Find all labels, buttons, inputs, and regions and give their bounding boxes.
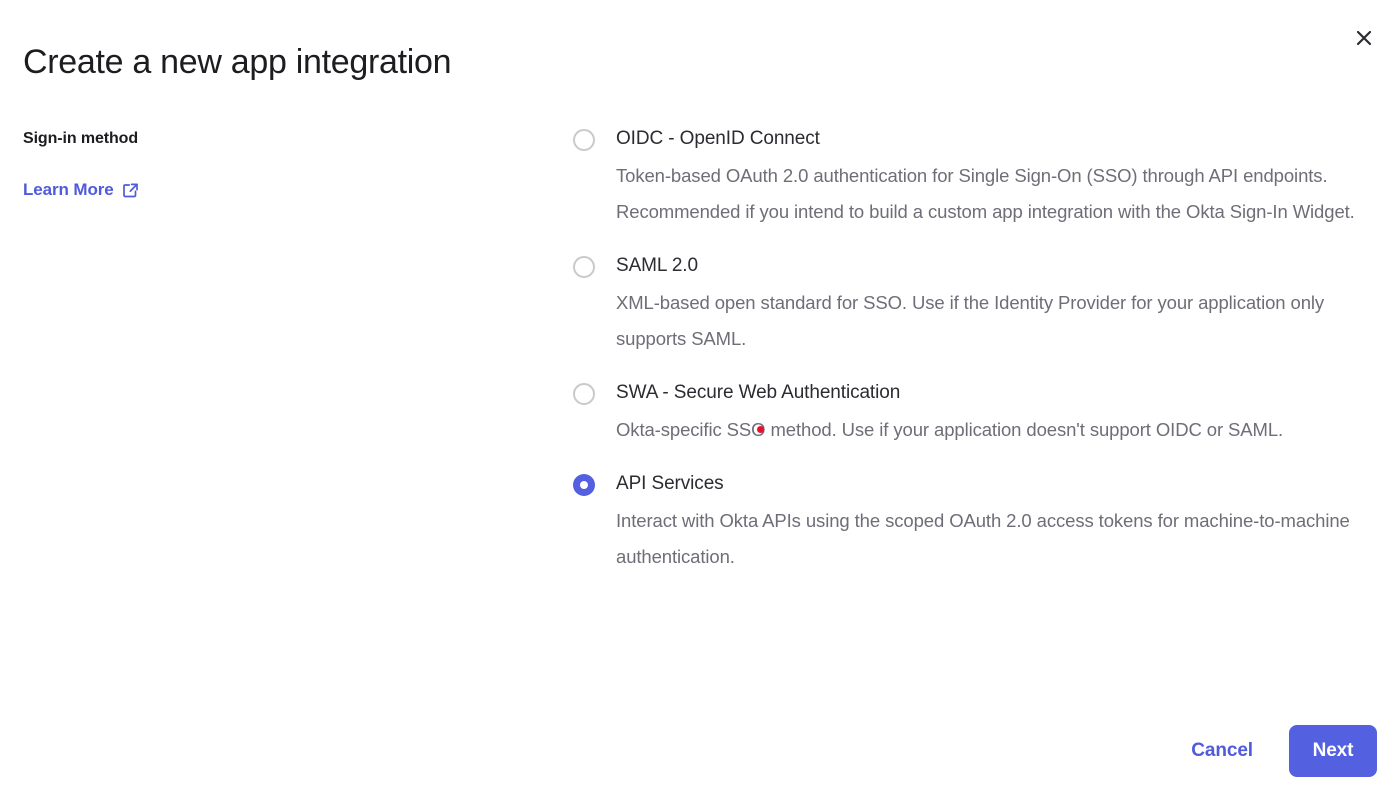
radio-option-label: OIDC - OpenID Connect bbox=[616, 126, 1385, 152]
external-link-icon bbox=[122, 181, 139, 199]
page-title: Create a new app integration bbox=[23, 40, 451, 84]
close-icon bbox=[1354, 28, 1374, 48]
radio-option-description: Interact with Okta APIs using the scoped… bbox=[616, 503, 1385, 575]
sign-in-method-radio-group: OIDC - OpenID Connect Token-based OAuth … bbox=[573, 126, 1385, 575]
learn-more-label: Learn More bbox=[23, 178, 114, 202]
learn-more-link[interactable]: Learn More bbox=[23, 178, 139, 202]
radio-option-label: API Services bbox=[616, 471, 1385, 497]
radio-option-description: XML-based open standard for SSO. Use if … bbox=[616, 285, 1385, 357]
radio-option-description: Okta-specific SSO method. Use if your ap… bbox=[616, 412, 1385, 448]
radio-option-oidc[interactable]: OIDC - OpenID Connect Token-based OAuth … bbox=[573, 126, 1385, 230]
cancel-button[interactable]: Cancel bbox=[1191, 738, 1253, 764]
radio-indicator-saml[interactable] bbox=[573, 256, 595, 278]
radio-option-label: SAML 2.0 bbox=[616, 253, 1385, 279]
radio-indicator-swa[interactable] bbox=[573, 383, 595, 405]
radio-option-swa[interactable]: SWA - Secure Web Authentication Okta-spe… bbox=[573, 380, 1385, 448]
radio-indicator-oidc[interactable] bbox=[573, 129, 595, 151]
close-button[interactable] bbox=[1342, 16, 1386, 60]
left-panel: Sign-in method Learn More bbox=[23, 127, 523, 202]
radio-option-api-services[interactable]: API Services Interact with Okta APIs usi… bbox=[573, 471, 1385, 575]
next-button[interactable]: Next bbox=[1289, 725, 1377, 777]
sign-in-method-label: Sign-in method bbox=[23, 127, 523, 151]
radio-option-label: SWA - Secure Web Authentication bbox=[616, 380, 1385, 406]
radio-indicator-api-services[interactable] bbox=[573, 474, 595, 496]
dialog-footer: Cancel Next bbox=[1191, 725, 1377, 777]
radio-option-saml[interactable]: SAML 2.0 XML-based open standard for SSO… bbox=[573, 253, 1385, 357]
create-app-integration-dialog: Create a new app integration Sign-in met… bbox=[0, 0, 1396, 788]
radio-option-description: Token-based OAuth 2.0 authentication for… bbox=[616, 158, 1385, 230]
